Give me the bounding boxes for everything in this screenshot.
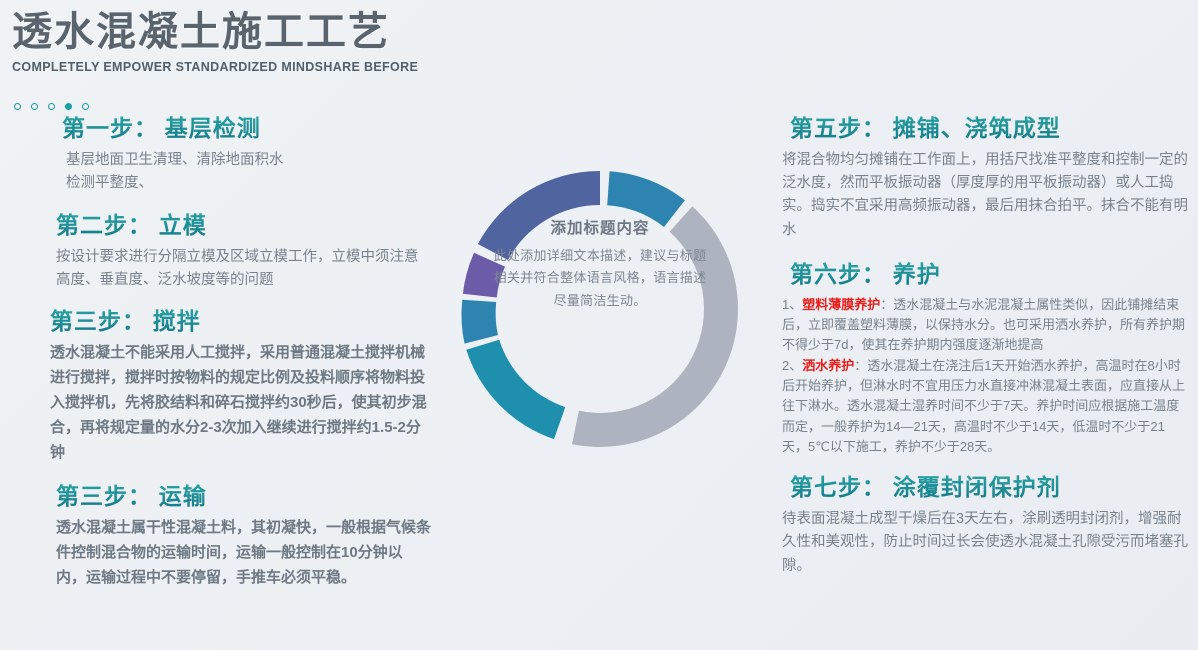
step-1-body: 基层地面卫生清理、清除地面积水 检测平整度、 — [42, 149, 432, 196]
donut-center-description: 此处添加详细文本描述，建议与标题相关并符合整体语言风格，语言描述尽量简洁生动。 — [491, 245, 709, 312]
step-7-body: 待表面混凝土成型干燥后在3天左右，涂刷透明封闭剂，增强耐久性和美观性，防止时间过… — [782, 508, 1190, 578]
step-1-heading: 第一步： 基层检测 — [42, 112, 432, 147]
page-title: 透水混凝土施工工艺 — [12, 8, 712, 56]
step-6-item-2-keyword: 洒水养护 — [802, 358, 854, 373]
pager-dot-3[interactable] — [48, 103, 55, 110]
step-block-7: 第七步： 涂覆封闭保护剂 待表面混凝土成型干燥后在3天左右，涂刷透明封闭剂，增强… — [782, 471, 1190, 578]
pager-dot-5[interactable] — [82, 103, 89, 110]
step-6-item-1-prefix: 1、 — [782, 297, 802, 312]
donut-center-text: 添加标题内容 此处添加详细文本描述，建议与标题相关并符合整体语言风格，语言描述尽… — [491, 216, 709, 312]
step-2-body: 按设计要求进行分隔立模及区域立模工作，立模中须注意高度、垂直度、泛水坡度等的问题 — [42, 246, 432, 293]
step-6-item-2-prefix: 2、 — [782, 358, 802, 373]
step-3-body: 透水混凝土不能采用人工搅拌，采用普通混凝土搅拌机械进行搅拌，搅拌时按物料的规定比… — [42, 341, 432, 465]
step-block-2: 第二步： 立模 按设计要求进行分隔立模及区域立模工作，立模中须注意高度、垂直度、… — [42, 209, 432, 292]
step-5-heading: 第五步： 摊铺、浇筑成型 — [782, 112, 1190, 147]
right-column: 第五步： 摊铺、浇筑成型 将混合物均匀摊铺在工作面上，用括尺找准平整度和控制一定… — [782, 112, 1190, 584]
step-6-item-1: 1、塑料薄膜养护：透水混凝土与水泥混凝土属性类似，因此铺摊结束后，立即覆盖塑料薄… — [782, 295, 1190, 356]
process-donut-chart: 添加标题内容 此处添加详细文本描述，建议与标题相关并符合整体语言风格，语言描述尽… — [429, 138, 771, 480]
page-subtitle: COMPLETELY EMPOWER STANDARDIZED MINDSHAR… — [12, 60, 712, 74]
step-block-5: 第五步： 摊铺、浇筑成型 将混合物均匀摊铺在工作面上，用括尺找准平整度和控制一定… — [782, 112, 1190, 242]
step-3-heading: 第三步： 搅拌 — [42, 305, 432, 340]
step-5-body: 将混合物均匀摊铺在工作面上，用括尺找准平整度和控制一定的泛水度，然而平板振动器（… — [782, 149, 1190, 243]
donut-segment-teal-bottom-left — [466, 340, 565, 439]
pager-dot-1[interactable] — [14, 103, 21, 110]
step-6-heading: 第六步： 养护 — [782, 258, 1190, 293]
header: 透水混凝土施工工艺 COMPLETELY EMPOWER STANDARDIZE… — [12, 8, 712, 74]
step-block-3: 第三步： 搅拌 透水混凝土不能采用人工搅拌，采用普通混凝土搅拌机械进行搅拌，搅拌… — [42, 305, 432, 466]
left-column: 第一步： 基层检测 基层地面卫生清理、清除地面积水 检测平整度、 第二步： 立模… — [42, 112, 432, 597]
step-7-heading: 第七步： 涂覆封闭保护剂 — [782, 471, 1190, 506]
slide-root: 透水混凝土施工工艺 COMPLETELY EMPOWER STANDARDIZE… — [0, 0, 1198, 650]
step-2-heading: 第二步： 立模 — [42, 209, 432, 244]
step-block-6: 第六步： 养护 1、塑料薄膜养护：透水混凝土与水泥混凝土属性类似，因此铺摊结束后… — [782, 258, 1190, 457]
step-4-heading: 第三步： 运输 — [42, 480, 432, 515]
pager-dot-4-active[interactable] — [65, 103, 72, 110]
pager-dots[interactable] — [14, 103, 89, 110]
pager-dot-2[interactable] — [31, 103, 38, 110]
step-block-4: 第三步： 运输 透水混凝土属干性混凝土料，其初凝快，一般根据气候条件控制混合物的… — [42, 480, 432, 591]
step-4-body: 透水混凝土属干性混凝土料，其初凝快，一般根据气候条件控制混合物的运输时间，运输一… — [42, 516, 432, 591]
step-6-item-2: 2、洒水养护：透水混凝土在浇注后1天开始洒水养护，高温时在8小时后开始养护，但淋… — [782, 356, 1190, 457]
step-6-item-1-keyword: 塑料薄膜养护 — [802, 297, 880, 312]
step-block-1: 第一步： 基层检测 基层地面卫生清理、清除地面积水 检测平整度、 — [42, 112, 432, 195]
donut-center-title: 添加标题内容 — [491, 216, 709, 238]
